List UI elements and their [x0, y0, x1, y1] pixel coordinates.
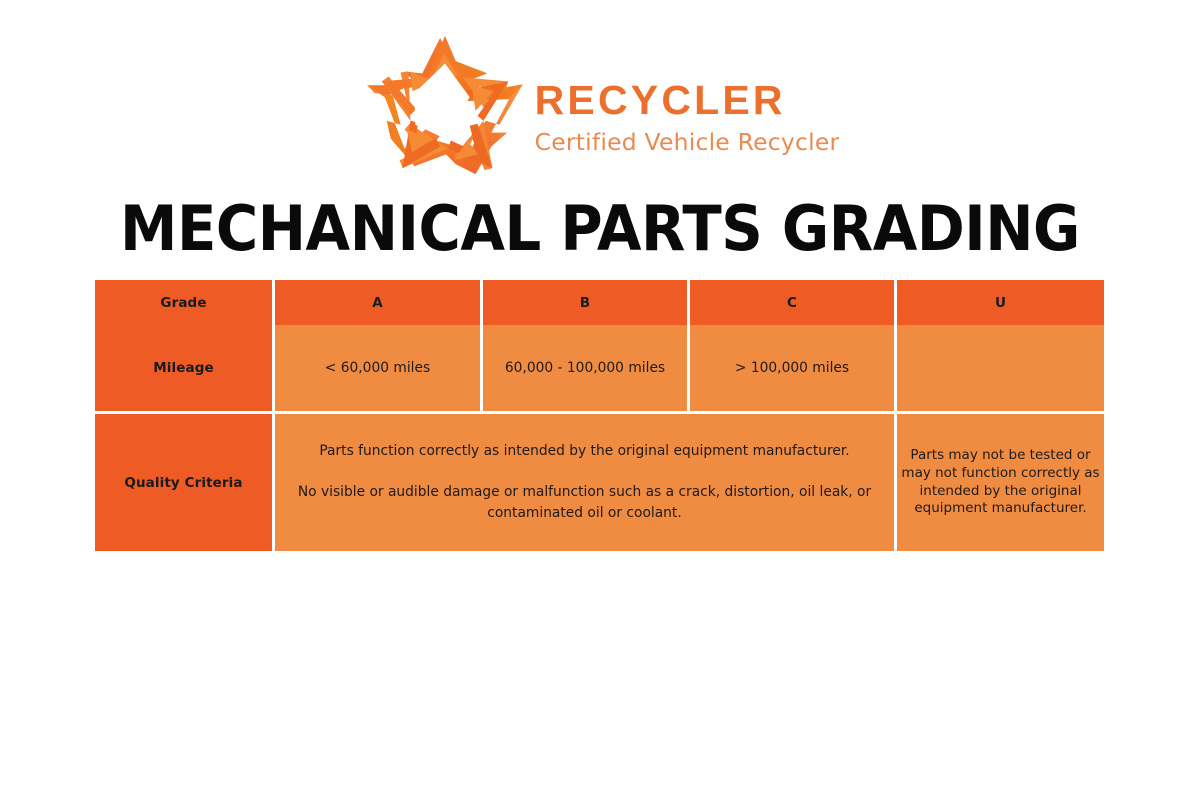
table-row-mileage: Mileage < 60,000 miles 60,000 - 100,000 …	[95, 325, 1104, 414]
header-cell-grade: Grade	[95, 280, 275, 325]
row-label-quality-criteria: Quality Criteria	[95, 414, 275, 551]
logo-wordmark: RECYCLER	[535, 80, 840, 122]
mileage-grade-c: > 100,000 miles	[690, 325, 897, 414]
logo-text-block: RECYCLER Certified Vehicle Recycler	[535, 54, 840, 157]
quality-criteria-line-1: Parts function correctly as intended by …	[275, 441, 894, 462]
mileage-grade-b: 60,000 - 100,000 miles	[483, 325, 690, 414]
recycling-star-logo-icon	[361, 30, 529, 182]
logo-inner: RECYCLER Certified Vehicle Recycler	[361, 30, 840, 182]
mechanical-parts-grading-table: Grade A B C U Mileage < 60,000 miles 60,…	[95, 280, 1104, 551]
table-row-quality-criteria: Quality Criteria Parts function correctl…	[95, 414, 1104, 551]
page-title: MECHANICAL PARTS GRADING	[42, 193, 1158, 264]
quality-criteria-grade-u: Parts may not be tested or may not funct…	[897, 414, 1104, 551]
mileage-grade-a: < 60,000 miles	[275, 325, 483, 414]
quality-criteria-grades-abc: Parts function correctly as intended by …	[275, 414, 897, 551]
brand-logo-block: RECYCLER Certified Vehicle Recycler	[0, 28, 1200, 183]
row-label-mileage: Mileage	[95, 325, 275, 414]
logo-tagline: Certified Vehicle Recycler	[535, 128, 840, 157]
header-cell-grade-b: B	[483, 280, 690, 325]
header-cell-grade-c: C	[690, 280, 897, 325]
header-cell-grade-a: A	[275, 280, 483, 325]
quality-criteria-line-2: No visible or audible damage or malfunct…	[275, 482, 894, 523]
table-header-row: Grade A B C U	[95, 280, 1104, 325]
header-cell-grade-u: U	[897, 280, 1104, 325]
mileage-grade-u	[897, 325, 1104, 414]
